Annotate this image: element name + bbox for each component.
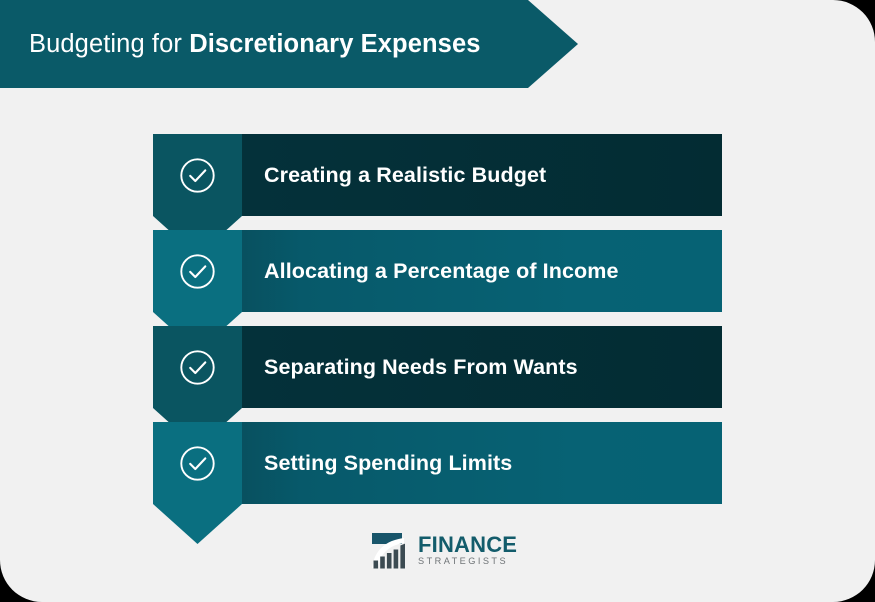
- brand-name-primary: FINANCE: [418, 534, 517, 555]
- brand-logo: FINANCE STRATEGISTS: [371, 530, 505, 570]
- list-item[interactable]: Creating a Realistic Budget: [153, 134, 722, 216]
- list-item-label: Creating a Realistic Budget: [264, 134, 546, 216]
- infographic-canvas: Budgeting for Discretionary Expenses Cre…: [0, 0, 875, 602]
- steps-list: Creating a Realistic Budget Allocating a…: [0, 0, 875, 602]
- brand-logo-text: FINANCE STRATEGISTS: [418, 534, 517, 567]
- infographic-card: Budgeting for Discretionary Expenses Cre…: [0, 0, 875, 602]
- list-item-label: Setting Spending Limits: [264, 422, 512, 504]
- check-circle-icon: [153, 326, 242, 408]
- list-item[interactable]: Separating Needs From Wants: [153, 326, 722, 408]
- check-circle-icon: [153, 230, 242, 312]
- check-circle-icon: [153, 134, 242, 216]
- list-item[interactable]: Setting Spending Limits: [153, 422, 722, 504]
- list-item-label: Separating Needs From Wants: [264, 326, 578, 408]
- brand-name-secondary: STRATEGISTS: [418, 556, 517, 567]
- list-item-label: Allocating a Percentage of Income: [264, 230, 619, 312]
- list-item-ribbon: [153, 422, 242, 544]
- list-item[interactable]: Allocating a Percentage of Income: [153, 230, 722, 312]
- check-circle-icon: [153, 422, 242, 504]
- finance-strategists-logo-icon: [371, 531, 411, 569]
